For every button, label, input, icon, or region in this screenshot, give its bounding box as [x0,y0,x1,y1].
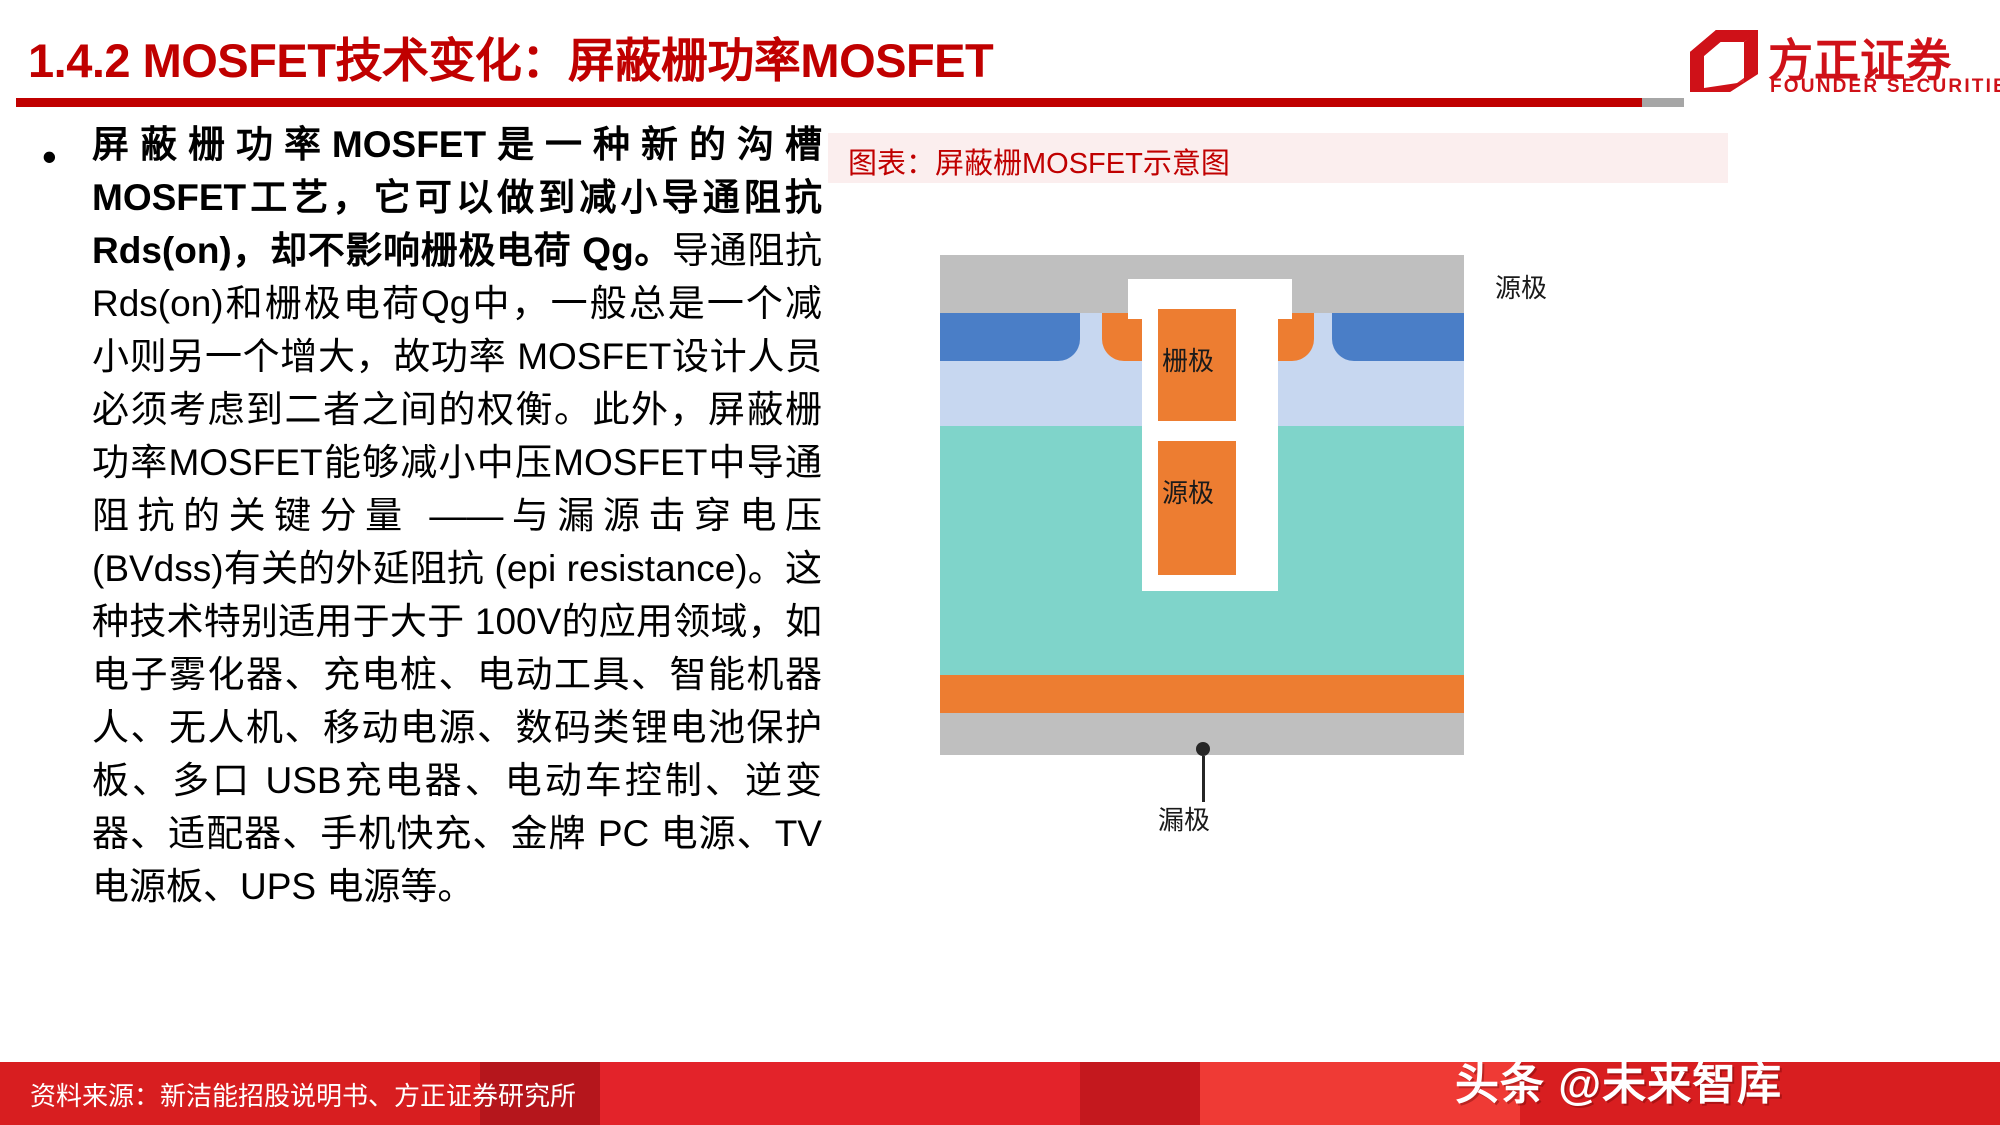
drain-callout-dot [1196,742,1210,756]
drain-callout-line [1202,756,1205,802]
body-paragraph: 屏蔽栅功率MOSFET是一种新的沟槽MOSFET工艺，它可以做到减小导通阻抗Rd… [92,118,822,913]
title-underline-cap [1642,98,1684,107]
source-note: 资料来源：新洁能招股说明书、方正证券研究所 [30,1076,576,1113]
body-text-column: • 屏蔽栅功率MOSFET是一种新的沟槽MOSFET工艺，它可以做到减小导通阻抗… [20,118,820,878]
nplus-source-well-left [940,313,1080,361]
label-drain: 漏极 [1158,800,1210,837]
slide-header: 1.4.2 MOSFET技术变化：屏蔽栅功率MOSFET 方正证券 FOUNDE… [0,0,2000,108]
page-title: 1.4.2 MOSFET技术变化：屏蔽栅功率MOSFET [28,22,993,91]
founder-securities-logo: 方正证券 FOUNDER SECURITIES [1690,18,1990,104]
nplus-source-well-right [1332,313,1464,361]
body-paragraph-rest: 导通阻抗Rds(on)和栅极电荷Qg中，一般总是一个减小则另一个增大，故功率 M… [92,230,822,907]
label-source-top: 源极 [1495,268,1547,305]
title-underline-rule [16,98,1642,107]
figure-caption-band: 图表：屏蔽栅MOSFET示意图 [828,133,1728,183]
watermark-text: 头条 @未来智库 [1455,1048,1782,1112]
figure-caption-text: 图表：屏蔽栅MOSFET示意图 [848,140,1230,182]
substrate-layer [940,675,1464,713]
bullet-marker: • [42,136,57,178]
label-shield-source: 源极 [1162,473,1214,510]
label-gate: 栅极 [1162,341,1214,378]
logo-diamond-icon [1690,30,1758,92]
mosfet-cross-section-diagram: 栅极 源极 [940,255,1464,755]
logo-english-name: FOUNDER SECURITIES [1770,76,2000,98]
